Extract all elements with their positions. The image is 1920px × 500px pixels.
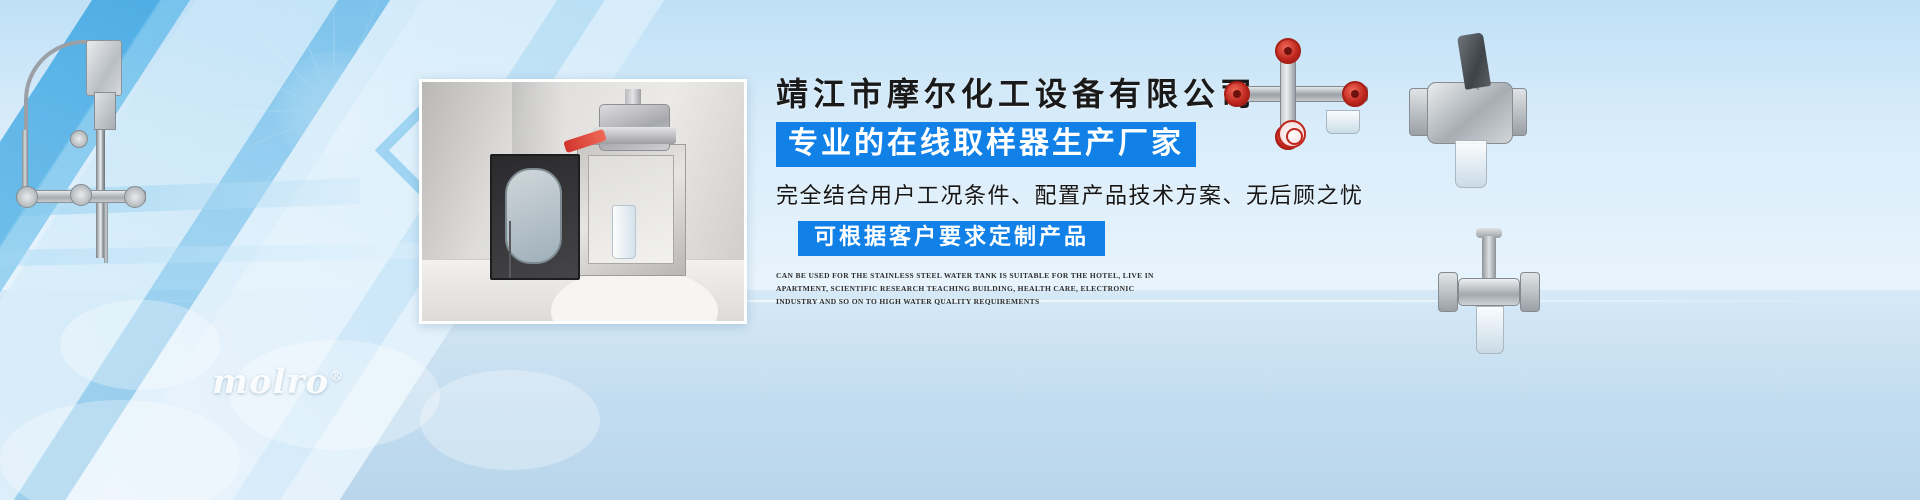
right-product-image	[1405, 30, 1535, 220]
water-blob-3	[420, 370, 600, 470]
english-fineprint: CAN BE USED FOR THE STAINLESS STEEL WATE…	[776, 269, 1176, 308]
red-handwheel-right	[1342, 81, 1368, 107]
watermark-text: molro	[212, 362, 329, 402]
product-photo[interactable]	[419, 79, 747, 324]
red-handwheel-top	[1275, 38, 1301, 64]
headline-badge: 专业的在线取样器生产厂家	[776, 122, 1196, 167]
water-blob-1	[60, 300, 220, 390]
red-handwheel-left	[1224, 81, 1250, 107]
left-product-image	[8, 18, 158, 268]
custom-order-badge: 可根据客户要求定制产品	[798, 221, 1105, 257]
brand-watermark: molro®	[212, 362, 344, 402]
custom-order-text: 可根据客户要求定制产品	[814, 225, 1089, 250]
sub-headline: 完全结合用户工况条件、配置产品技术方案、无后顾之忧	[776, 178, 1396, 210]
promotional-banner: 靖江市摩尔化工设备有限公司 专业的在线取样器生产厂家 完全结合用户工况条件、配置…	[0, 0, 1920, 500]
headline-text: 专业的在线取样器生产厂家	[788, 126, 1184, 161]
bottom-right-product-image	[1432, 228, 1552, 368]
watermark-registered-icon: ®	[329, 369, 344, 385]
top-right-product-image	[1218, 38, 1378, 148]
brand-seal-icon	[1278, 120, 1306, 148]
